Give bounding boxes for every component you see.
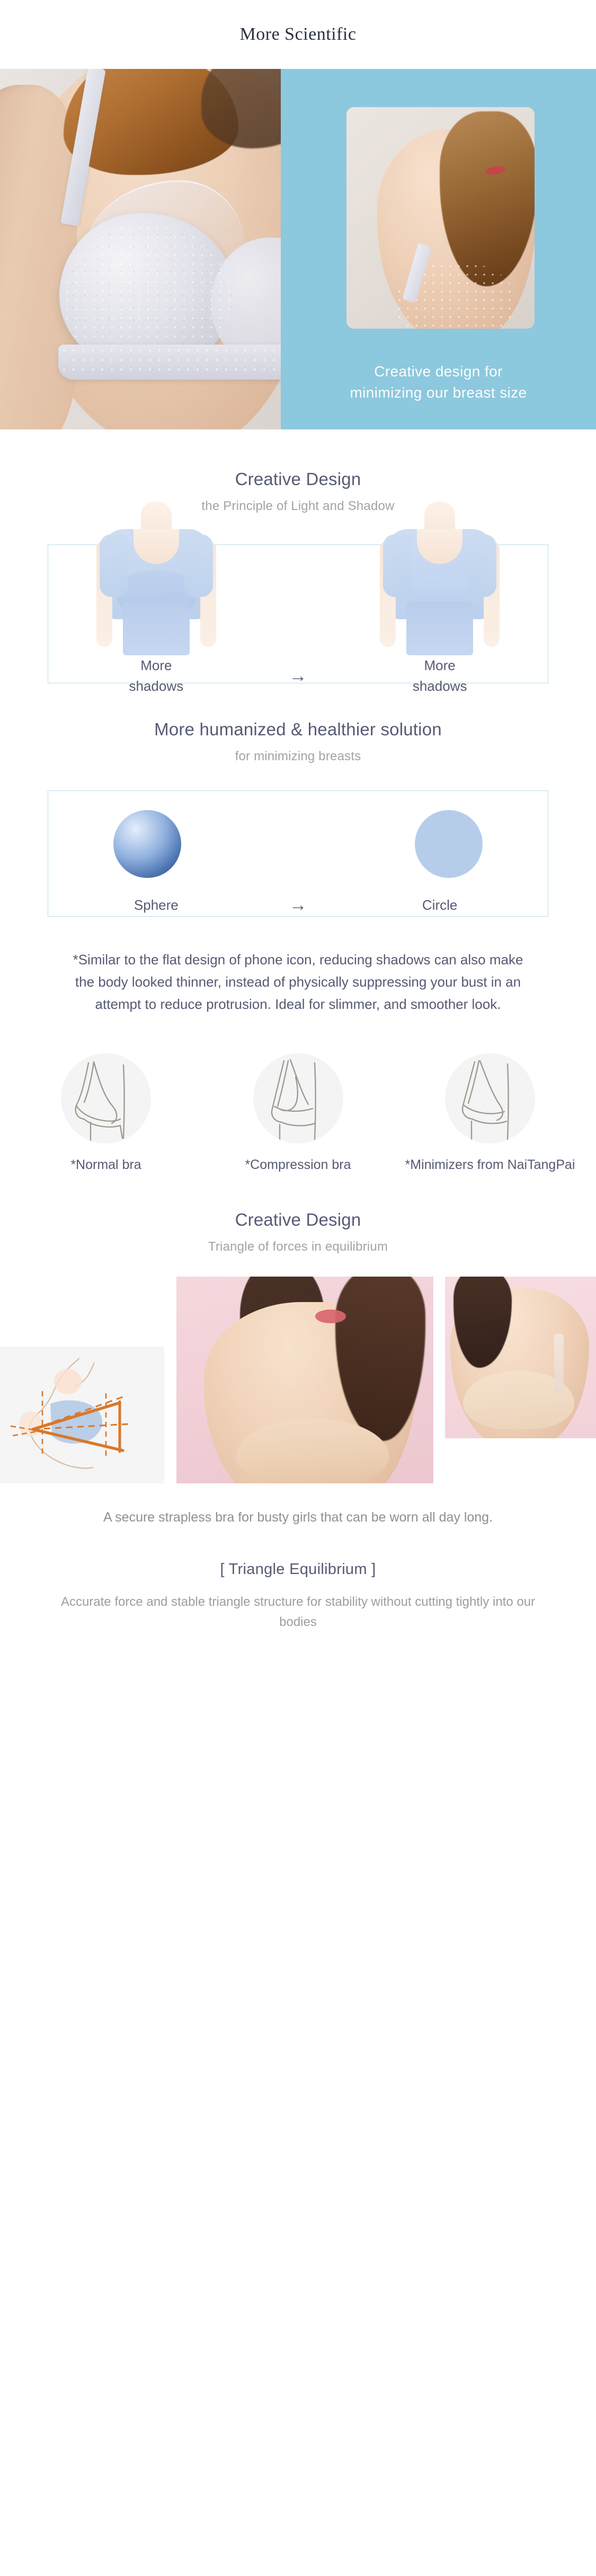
photo-collage [0, 1277, 596, 1483]
triangle-equilibrium-subtitle: Accurate force and stable triangle struc… [60, 1592, 537, 1633]
force-diagram [0, 1347, 164, 1483]
triangle-section-title: Creative Design [0, 1210, 596, 1230]
triangle-section-heading: Creative Design Triangle of forces in eq… [0, 1210, 596, 1254]
shadow-section-subtitle: the Principle of Light and Shadow [0, 499, 596, 514]
shadow-label-left-line2: shadows [95, 676, 217, 697]
triangle-equilibrium-title: [ Triangle Equilibrium ] [0, 1561, 596, 1578]
normal-bra-sketch-icon [61, 1053, 151, 1144]
hero-blue-panel: Creative design for minimizing our breas… [281, 69, 596, 429]
sphere-graphic [113, 810, 181, 878]
hero-caption-line-2: minimizing our breast size [281, 382, 596, 404]
comparison-item-normal: *Normal bra [16, 1053, 196, 1174]
comparison-item-minimizers: *Minimizers from NaiTangPai [400, 1053, 580, 1174]
shadow-label-right-line1: More [379, 655, 501, 676]
bra-band-lace-texture [59, 346, 281, 379]
bra-comparison-row: *Normal bra *Compression bra [0, 1053, 596, 1174]
comparison-item-compression: *Compression bra [208, 1053, 388, 1174]
hero-banner: Creative design for minimizing our breas… [0, 69, 596, 429]
shadow-label-row: More shadows → More shadows [48, 655, 548, 713]
sphere-section-title: More humanized & healthier solution [0, 719, 596, 740]
shadow-section-title: Creative Design [0, 469, 596, 489]
hero-caption: Creative design for minimizing our breas… [281, 361, 596, 404]
comparison-caption-compression: *Compression bra [208, 1155, 388, 1174]
arrow-right-icon: → [269, 666, 327, 687]
torso-illustration-less-shadows [379, 502, 501, 655]
torso-illustration-more-shadows [95, 502, 217, 655]
promo-text: A secure strapless bra for busty girls t… [65, 1507, 531, 1528]
shadow-section-heading: Creative Design the Principle of Light a… [0, 469, 596, 514]
collage-photo-right [445, 1277, 596, 1438]
collage-photo-center [176, 1277, 433, 1483]
triangle-section-subtitle: Triangle of forces in equilibrium [0, 1239, 596, 1254]
comparison-caption-normal: *Normal bra [16, 1155, 196, 1174]
shape-label-row: Sphere → Circle [48, 883, 548, 931]
hero-caption-line-1: Creative design for [281, 361, 596, 383]
compression-bra-sketch-icon [253, 1053, 343, 1144]
shadow-label-left: More shadows [95, 655, 217, 697]
shadow-label-left-line1: More [95, 655, 217, 676]
shape-label-sphere: Sphere [95, 895, 217, 916]
shape-row [48, 791, 548, 883]
hero-inset-photo [346, 107, 535, 329]
circle-graphic [415, 810, 483, 878]
page-title: More Scientific [0, 0, 596, 69]
note-paragraph: *Similar to the flat design of phone ico… [68, 948, 529, 1015]
sphere-section-subtitle: for minimizing breasts [0, 749, 596, 764]
sphere-comparison-panel: Sphere → Circle [48, 790, 548, 917]
arrow-right-icon-2: → [269, 895, 327, 916]
shadow-comparison-panel: More shadows → More shadows [48, 544, 548, 683]
shadow-label-right-line2: shadows [379, 676, 501, 697]
right-adhesive-strip [554, 1334, 564, 1393]
torso-illustration-row [48, 545, 548, 655]
sphere-section-heading: More humanized & healthier solution for … [0, 719, 596, 764]
center-model-lips [315, 1309, 346, 1323]
shadow-label-right: More shadows [379, 655, 501, 697]
comparison-caption-minimizers: *Minimizers from NaiTangPai [400, 1155, 580, 1174]
hero-main-photo [0, 69, 281, 429]
minimizer-bra-sketch-icon [445, 1053, 535, 1144]
shape-label-circle: Circle [379, 895, 501, 916]
